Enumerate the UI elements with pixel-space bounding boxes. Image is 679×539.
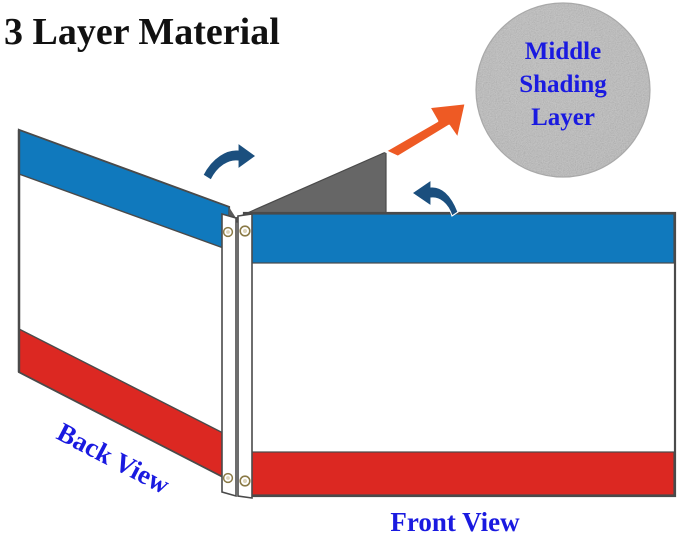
right-curved-arrow	[412, 180, 458, 216]
grommet-top-back	[224, 228, 233, 237]
middle-layer-label-line2: Shading	[519, 71, 607, 98]
orange-callout-arrow	[385, 103, 466, 157]
front-panel-blue-band	[245, 214, 674, 263]
middle-shading-layer	[229, 152, 386, 222]
hem-assembly	[222, 214, 252, 498]
hem-strip-front	[238, 214, 252, 498]
grommet-top-front	[240, 226, 250, 236]
left-curved-arrow	[203, 143, 256, 180]
page-title: 3 Layer Material	[4, 11, 280, 53]
front-view-label: Front View	[390, 507, 520, 537]
diagram-stage: Middle Shading Layer 3 Layer Material Ba…	[0, 0, 679, 539]
front-panel-red-band	[245, 452, 674, 495]
three-layer-material-diagram: Middle Shading Layer 3 Layer Material Ba…	[0, 0, 679, 539]
grommet-bottom-front	[240, 476, 250, 486]
hem-strip-back	[222, 214, 236, 496]
middle-layer-label-line3: Layer	[531, 104, 595, 131]
grommet-bottom-back	[224, 474, 233, 483]
back-view-panel	[19, 130, 229, 480]
middle-layer-label-line1: Middle	[525, 38, 601, 65]
front-view-panel	[244, 213, 675, 496]
middle-layer-wedge	[236, 152, 386, 222]
